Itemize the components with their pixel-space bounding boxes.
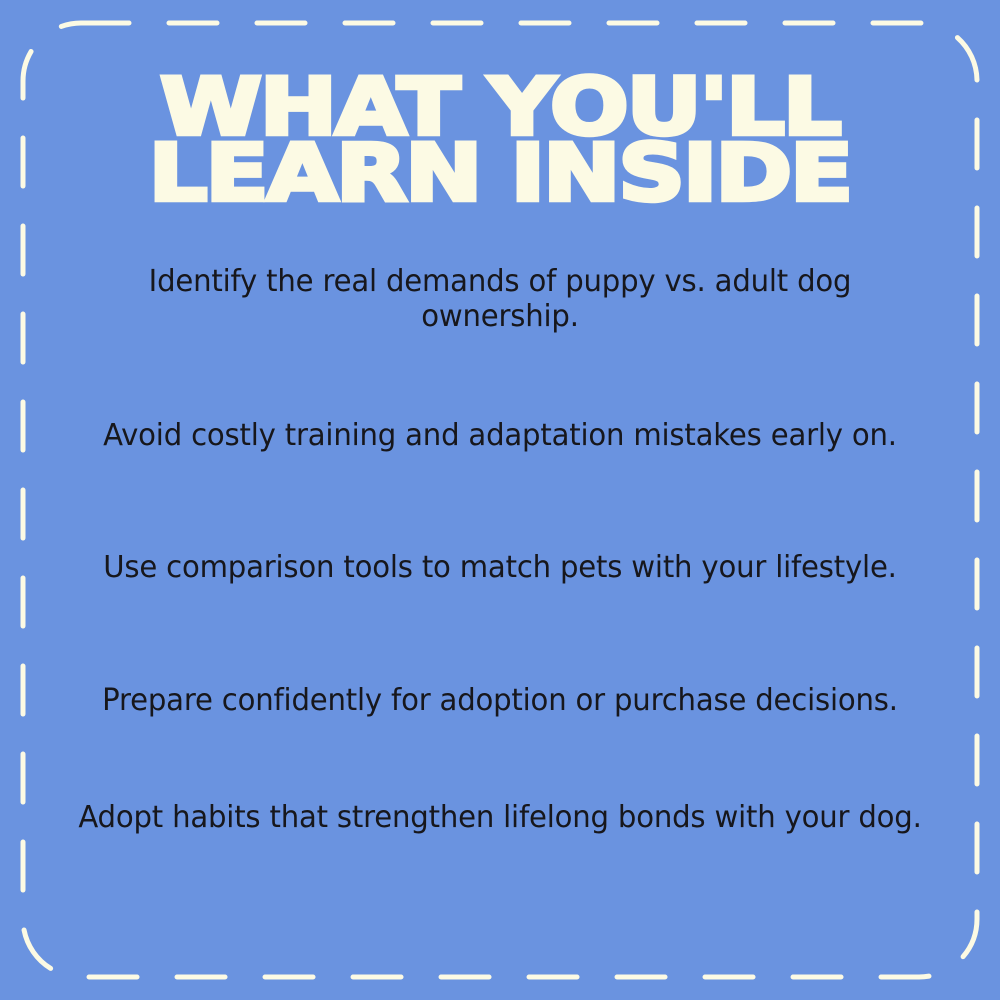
list-item: Use comparison tools to match pets with … — [66, 551, 933, 586]
list-item: Adopt habits that strengthen lifelong bo… — [66, 801, 933, 836]
page-title-line-2: LEARN INSIDE — [0, 142, 1000, 208]
slide-content: WHAT YOU'LL LEARN INSIDE Identify the re… — [0, 0, 1000, 1000]
slide-canvas: WHAT YOU'LL LEARN INSIDE Identify the re… — [0, 0, 1000, 1000]
list-item: Avoid costly training and adaptation mis… — [66, 419, 933, 454]
list-item: Identify the real demands of puppy vs. a… — [66, 265, 933, 335]
learning-points-list: Identify the real demands of puppy vs. a… — [46, 207, 954, 1000]
list-item: Prepare confidently for adoption or purc… — [66, 684, 933, 719]
page-title: WHAT YOU'LL LEARN INSIDE — [0, 0, 1000, 207]
